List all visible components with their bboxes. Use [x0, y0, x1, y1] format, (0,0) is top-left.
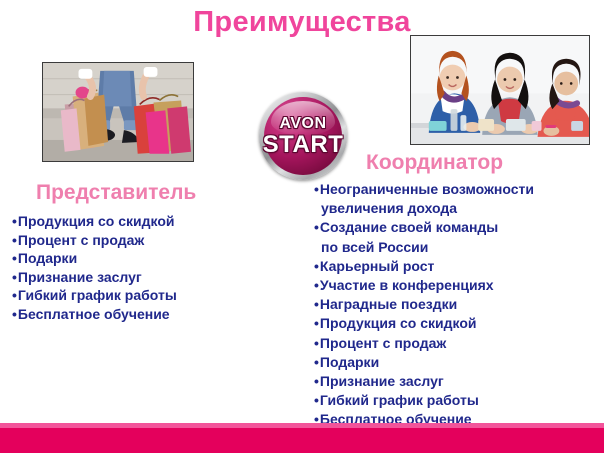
badge-start-text: START: [263, 133, 344, 157]
list-item: •Признание заслуг: [12, 268, 177, 287]
badge-brand-text: AVON: [279, 116, 326, 132]
list-item: •Продукция со скидкой: [314, 314, 534, 333]
shopping-bags-illustration: [43, 63, 193, 162]
list-item-label: Процент с продаж: [320, 335, 446, 351]
benefits-list-coordinator: •Неограниченные возможностиувеличения до…: [314, 180, 534, 430]
footer-accent-bar: [0, 423, 604, 453]
list-item-label: Карьерный рост: [320, 258, 434, 274]
bullet-dot-icon: •: [12, 250, 17, 266]
bullet-dot-icon: •: [12, 213, 17, 229]
presentation-slide: Преимущества: [0, 0, 604, 453]
list-item-label: Гибкий график работы: [18, 287, 177, 303]
bullet-dot-icon: •: [314, 277, 319, 293]
photo-shopping-bags: [42, 62, 194, 162]
list-item: •Бесплатное обучение: [12, 305, 177, 324]
badge-label: AVON START: [259, 92, 347, 180]
list-item-label: Неограниченные возможности: [320, 181, 534, 197]
list-item-label: Участие в конференциях: [320, 277, 494, 293]
list-item: •Карьерный рост: [314, 257, 534, 276]
list-item-label: Признание заслуг: [320, 373, 444, 389]
list-item: •Гибкий график работы: [12, 286, 177, 305]
bullet-dot-icon: •: [12, 306, 17, 322]
bullet-dot-icon: •: [314, 335, 319, 351]
bullet-dot-icon: •: [314, 354, 319, 370]
bullet-dot-icon: •: [314, 219, 319, 235]
list-item: •Процент с продаж: [314, 334, 534, 353]
avon-start-badge: AVON START: [259, 92, 347, 180]
list-item-label: Продукция со скидкой: [18, 213, 175, 229]
list-item: •Продукция со скидкой: [12, 212, 177, 231]
column-heading-coordinator: Координатор: [366, 151, 503, 175]
list-item: •Подарки: [314, 353, 534, 372]
photo-team-meeting: [410, 35, 590, 145]
bullet-dot-icon: •: [314, 315, 319, 331]
benefits-list-representative: •Продукция со скидкой•Процент с продаж•П…: [12, 212, 177, 323]
list-item-label: Признание заслуг: [18, 269, 142, 285]
bullet-dot-icon: •: [12, 287, 17, 303]
list-item-label-continued: увеличения дохода: [314, 199, 534, 218]
list-item-label: Подарки: [18, 250, 77, 266]
bullet-dot-icon: •: [314, 258, 319, 274]
list-item: •Подарки: [12, 249, 177, 268]
bullet-dot-icon: •: [314, 296, 319, 312]
team-meeting-illustration: [411, 36, 589, 145]
list-item: •Наградные поездки: [314, 295, 534, 314]
list-item: •Гибкий график работы: [314, 391, 534, 410]
list-item: •Участие в конференциях: [314, 276, 534, 295]
bullet-dot-icon: •: [12, 232, 17, 248]
list-item: •Процент с продаж: [12, 231, 177, 250]
list-item-label: Создание своей команды: [320, 219, 498, 235]
list-item: •Неограниченные возможностиувеличения до…: [314, 180, 534, 218]
bullet-dot-icon: •: [314, 181, 319, 197]
list-item-label: Гибкий график работы: [320, 392, 479, 408]
column-heading-representative: Представитель: [36, 181, 196, 205]
list-item-label-continued: по всей России: [314, 238, 534, 257]
list-item-label: Процент с продаж: [18, 232, 144, 248]
footer-accent-band: [0, 428, 604, 453]
list-item-label: Продукция со скидкой: [320, 315, 477, 331]
list-item-label: Наградные поездки: [320, 296, 457, 312]
bullet-dot-icon: •: [314, 392, 319, 408]
list-item-label: Подарки: [320, 354, 379, 370]
list-item: •Создание своей командыпо всей России: [314, 218, 534, 256]
bullet-dot-icon: •: [12, 269, 17, 285]
list-item-label: Бесплатное обучение: [18, 306, 170, 322]
list-item: •Признание заслуг: [314, 372, 534, 391]
bullet-dot-icon: •: [314, 373, 319, 389]
